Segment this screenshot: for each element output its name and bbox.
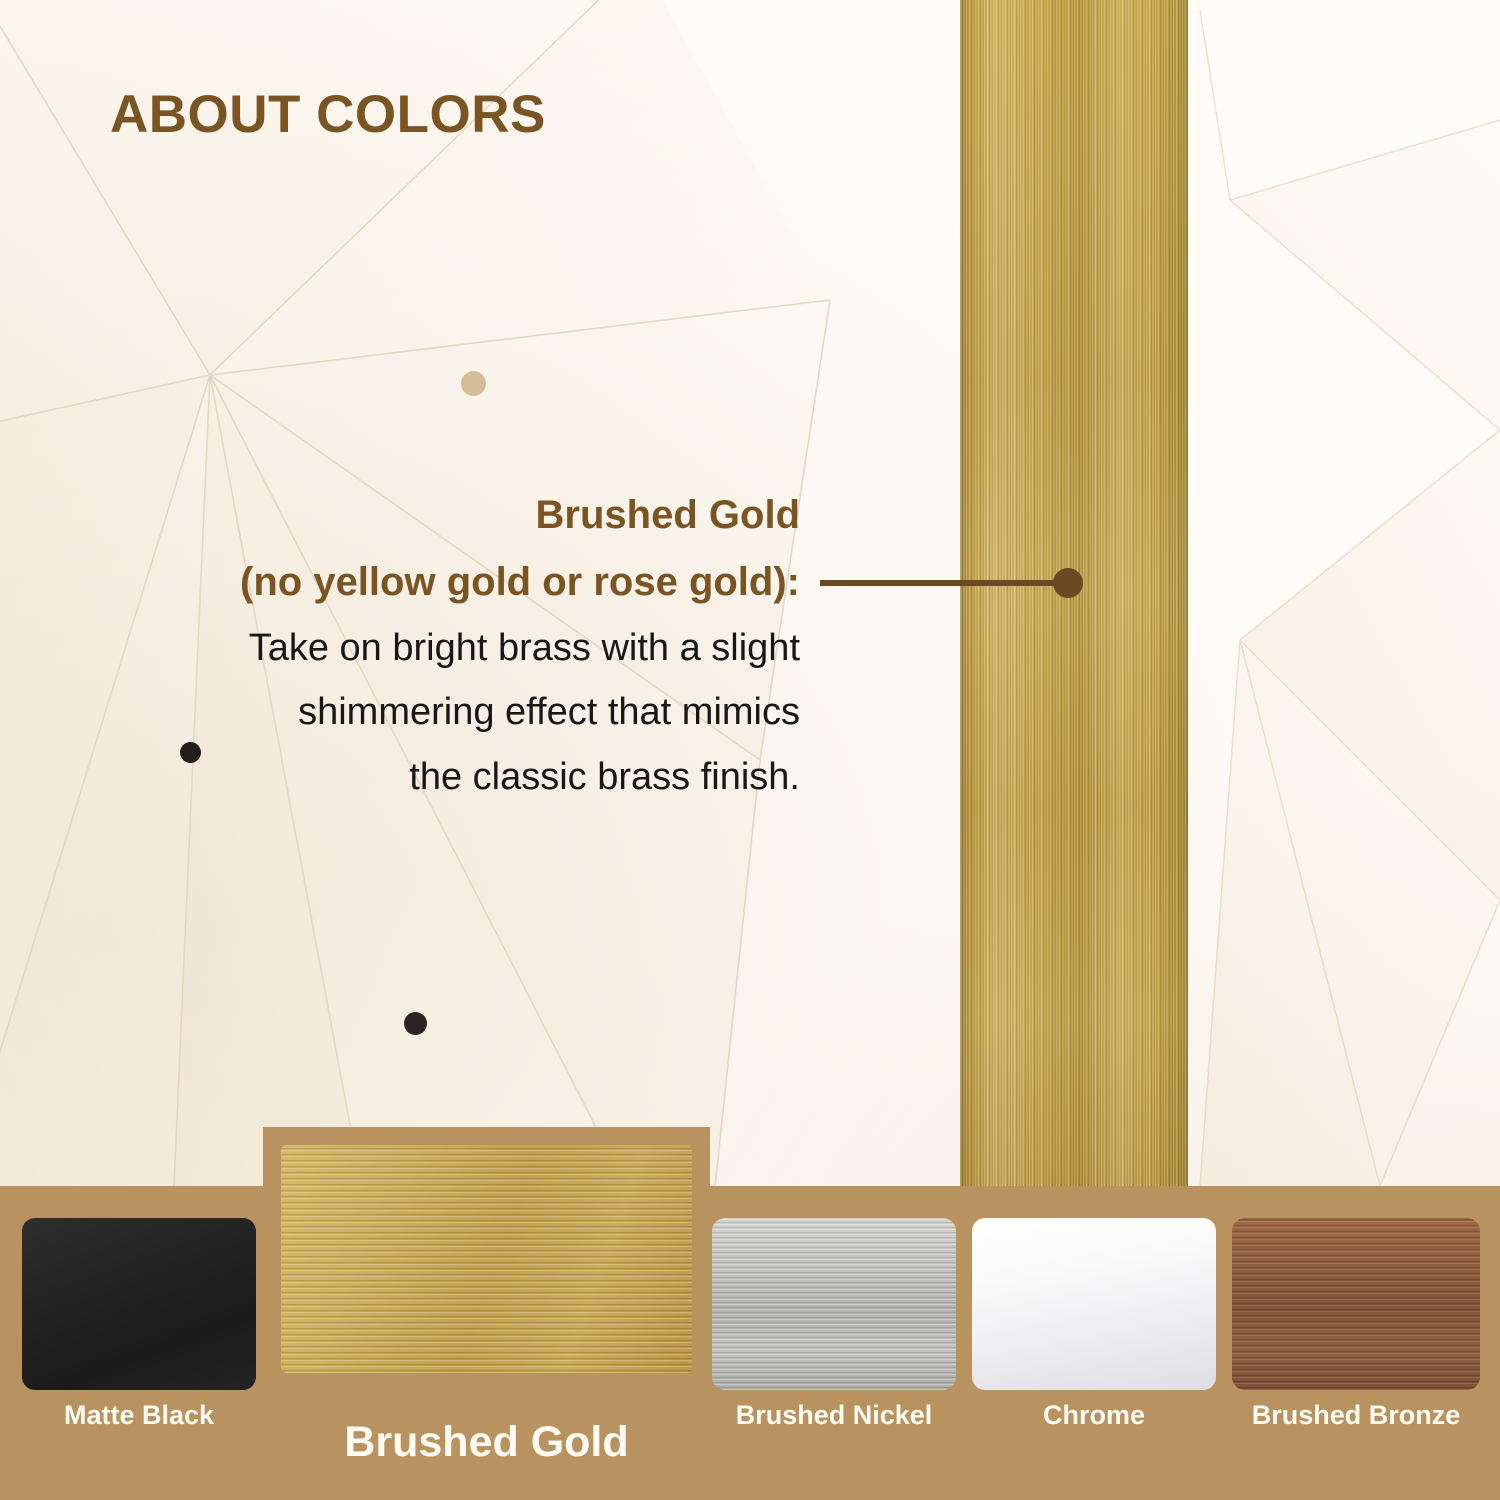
swatch-label-brushed-nickel: Brushed Nickel bbox=[712, 1400, 956, 1431]
callout-body-line-2: shimmering effect that mimics bbox=[100, 680, 800, 745]
swatch-label-brushed-bronze: Brushed Bronze bbox=[1232, 1400, 1480, 1431]
swatch-brushed-gold-selected[interactable] bbox=[281, 1145, 692, 1373]
swatch-label-brushed-gold-featured: Brushed Gold bbox=[263, 1418, 710, 1467]
swatch-matte-black[interactable] bbox=[22, 1218, 256, 1390]
swatch-brushed-bronze[interactable] bbox=[1232, 1218, 1480, 1390]
callout-leader-dot bbox=[1053, 568, 1083, 598]
callout-heading-line-1: Brushed Gold bbox=[100, 482, 800, 549]
swatch-chrome[interactable] bbox=[972, 1218, 1216, 1390]
callout-text-block: Brushed Gold (no yellow gold or rose gol… bbox=[100, 482, 800, 809]
swatch-label-chrome: Chrome bbox=[972, 1400, 1216, 1431]
decorative-dot-dark-lower bbox=[404, 1012, 427, 1035]
callout-body-line-1: Take on bright brass with a slight bbox=[100, 616, 800, 681]
swatch-brushed-nickel[interactable] bbox=[712, 1218, 956, 1390]
page-title: ABOUT COLORS bbox=[110, 84, 546, 145]
decorative-dot-tan bbox=[461, 371, 486, 396]
swatch-label-matte-black: Matte Black bbox=[22, 1400, 256, 1431]
callout-leader-line bbox=[820, 580, 1068, 586]
callout-heading-line-2: (no yellow gold or rose gold): bbox=[100, 549, 800, 616]
callout-body-line-3: the classic brass finish. bbox=[100, 745, 800, 810]
infographic-canvas: ABOUT COLORS Brushed Gold (no yellow gol… bbox=[0, 0, 1500, 1500]
